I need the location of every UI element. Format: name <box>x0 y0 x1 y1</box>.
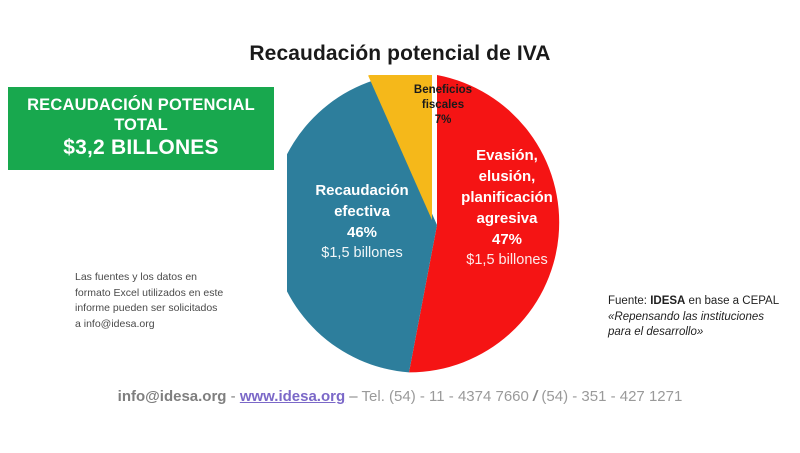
pie-chart-svg <box>287 75 587 377</box>
footer-contact-bar: info@idesa.org - www.idesa.org – Tel. (5… <box>0 388 800 405</box>
footer-website-link[interactable]: www.idesa.org <box>240 388 345 405</box>
data-request-note: Las fuentes y los datos en formato Excel… <box>75 270 225 332</box>
total-box-amount: $3,2 BILLONES <box>63 135 218 160</box>
total-box-line1: RECAUDACIÓN POTENCIAL <box>27 96 255 115</box>
pie-chart: Beneficios fiscales 7% Recaudación efect… <box>287 75 587 377</box>
source-note-publication: «Repensando las instituciones para el de… <box>608 311 764 339</box>
footer-phone-2: (54) - 351 - 427 1271 <box>537 388 682 405</box>
footer-phone-1: Tel. (54) - 11 - 4374 7660 <box>362 388 534 405</box>
page-title: Recaudación potencial de IVA <box>0 42 800 66</box>
footer-separator-1: - <box>226 388 239 405</box>
source-note: Fuente: IDESA en base a CEPAL «Repensand… <box>608 294 788 341</box>
source-note-organization: IDESA <box>650 295 685 307</box>
footer-email[interactable]: info@idesa.org <box>118 388 227 405</box>
total-box-line2: TOTAL <box>114 115 167 135</box>
total-highlight-box: RECAUDACIÓN POTENCIAL TOTAL $3,2 BILLONE… <box>8 87 274 170</box>
source-note-middle: en base a CEPAL <box>685 295 778 307</box>
source-note-prefix: Fuente: <box>608 295 650 307</box>
footer-separator-2: – <box>345 388 361 405</box>
